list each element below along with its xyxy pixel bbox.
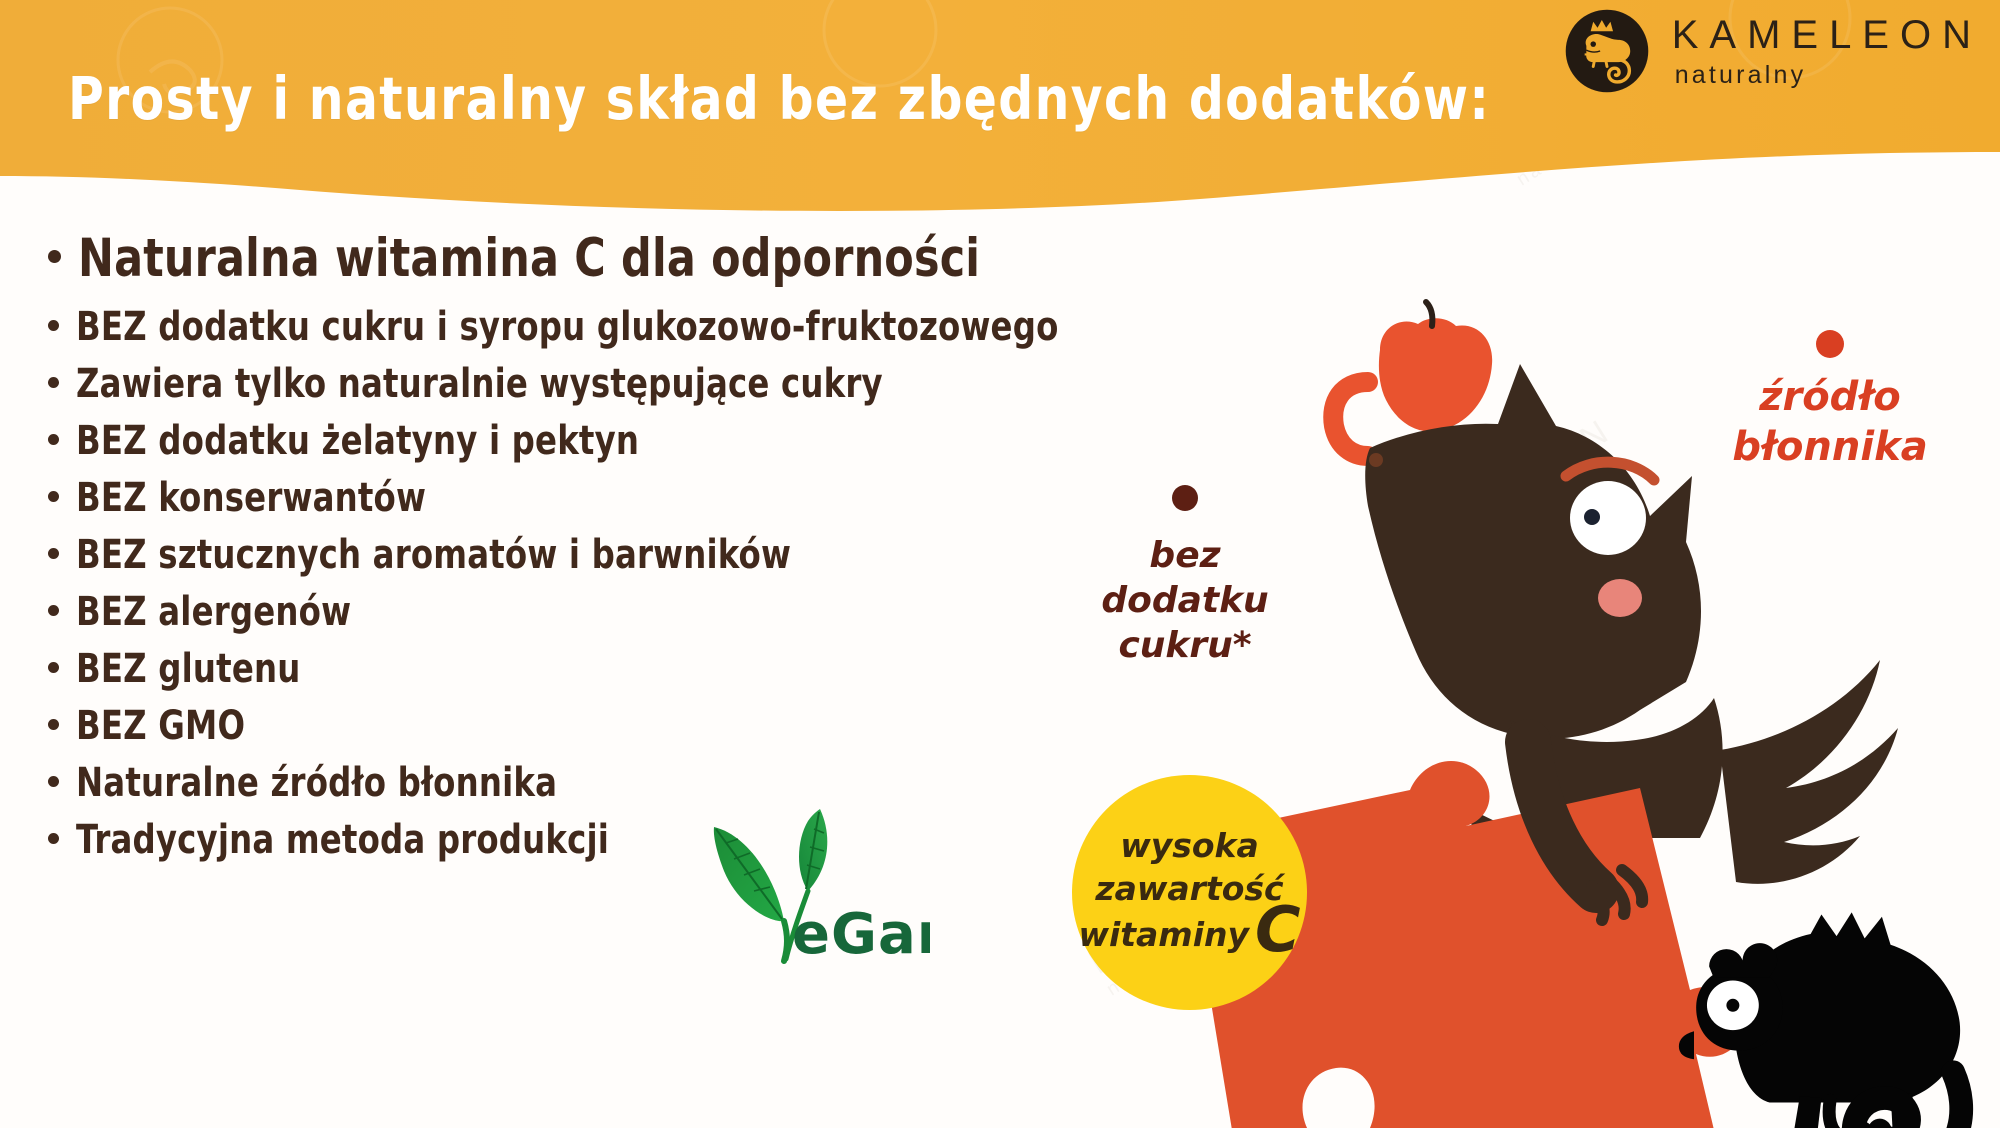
svg-text:eGan: eGan — [792, 902, 930, 967]
list-item-label: BEZ dodatku cukru i syropu glukozowo-fru… — [76, 304, 1059, 350]
list-item-label: BEZ dodatku żelatyny i pektyn — [76, 418, 639, 464]
brand-name: KAMELEON — [1672, 15, 1982, 55]
list-item: BEZ dodatku cukru i syropu glukozowo-fru… — [48, 304, 1028, 361]
vitamin-c-line-3: witaminy — [1078, 914, 1249, 957]
vitamin-c-badge: wysoka zawartość witaminy C — [1072, 775, 1307, 1010]
bullet-dot-icon — [48, 833, 59, 844]
dot-icon — [1816, 330, 1844, 358]
vitamin-c-line-1: wysoka — [1120, 825, 1259, 868]
bullet-dot-icon — [48, 776, 59, 787]
feature-list: Naturalna witamina C dla odporności BEZ … — [48, 228, 1028, 874]
fiber-line-2: błonnika — [1710, 422, 1950, 472]
bullet-dot-icon — [48, 548, 59, 559]
bullet-dot-icon — [48, 491, 59, 502]
infographic-root: KAMELEON naturalny KAMELEON naturalny KA… — [0, 0, 2000, 1128]
list-item-label: Naturalne źródło błonnika — [76, 760, 557, 806]
bullet-dot-icon — [48, 434, 59, 445]
list-item: BEZ GMO — [48, 703, 1028, 760]
list-item: BEZ alergenów — [48, 589, 1028, 646]
fiber-source-badge: źródło błonnika — [1710, 330, 1950, 472]
bullet-dot-icon — [48, 250, 61, 263]
list-item-label: Naturalna witamina C dla odporności — [78, 228, 980, 289]
no-sugar-badge: bez dodatku cukru* — [1090, 485, 1280, 668]
vegan-badge: eGan — [700, 795, 930, 995]
fiber-line-1: źródło — [1710, 372, 1950, 422]
list-item: BEZ dodatku żelatyny i pektyn — [48, 418, 1028, 475]
list-item-label: BEZ sztucznych aromatów i barwników — [76, 532, 791, 578]
bullet-dot-icon — [48, 662, 59, 673]
bullet-dot-icon — [48, 605, 59, 616]
list-item-label: BEZ alergenów — [76, 589, 351, 635]
bullet-dot-icon — [48, 377, 59, 388]
list-item: Zawiera tylko naturalnie występujące cuk… — [48, 361, 1028, 418]
chameleon-crown-icon — [1564, 8, 1650, 94]
list-item-label: BEZ GMO — [76, 703, 245, 749]
list-item-label: BEZ glutenu — [76, 646, 300, 692]
no-sugar-line-3: cukru* — [1090, 623, 1280, 668]
chameleon-silhouette-icon — [1679, 912, 1961, 1128]
brand-logo[interactable]: KAMELEON naturalny — [1564, 8, 1982, 94]
dot-icon — [1172, 485, 1198, 511]
bullet-dot-icon — [48, 320, 59, 331]
no-sugar-line-2: dodatku — [1090, 578, 1280, 623]
no-sugar-line-1: bez — [1090, 533, 1280, 578]
list-item-label: Tradycyjna metoda produkcji — [76, 817, 609, 863]
list-item: BEZ konserwantów — [48, 475, 1028, 532]
apple-icon — [1379, 302, 1492, 432]
brand-logo-text: KAMELEON naturalny — [1672, 15, 1982, 88]
brand-tagline: naturalny — [1675, 63, 1982, 88]
list-item: Naturalna witamina C dla odporności — [48, 228, 1028, 304]
list-item-label: BEZ konserwantów — [76, 475, 426, 521]
page-title: Prosty i naturalny skład bez zbędnych do… — [68, 64, 1490, 133]
list-item: BEZ glutenu — [48, 646, 1028, 703]
list-item-label: Zawiera tylko naturalnie występujące cuk… — [76, 361, 883, 407]
vitamin-c-letter: C — [1255, 905, 1301, 955]
bullet-dot-icon — [48, 719, 59, 730]
vegan-leaves-icon: eGan — [700, 795, 930, 995]
list-item: BEZ sztucznych aromatów i barwników — [48, 532, 1028, 589]
vitamin-c-line-3-row: witaminy C — [1078, 911, 1300, 961]
